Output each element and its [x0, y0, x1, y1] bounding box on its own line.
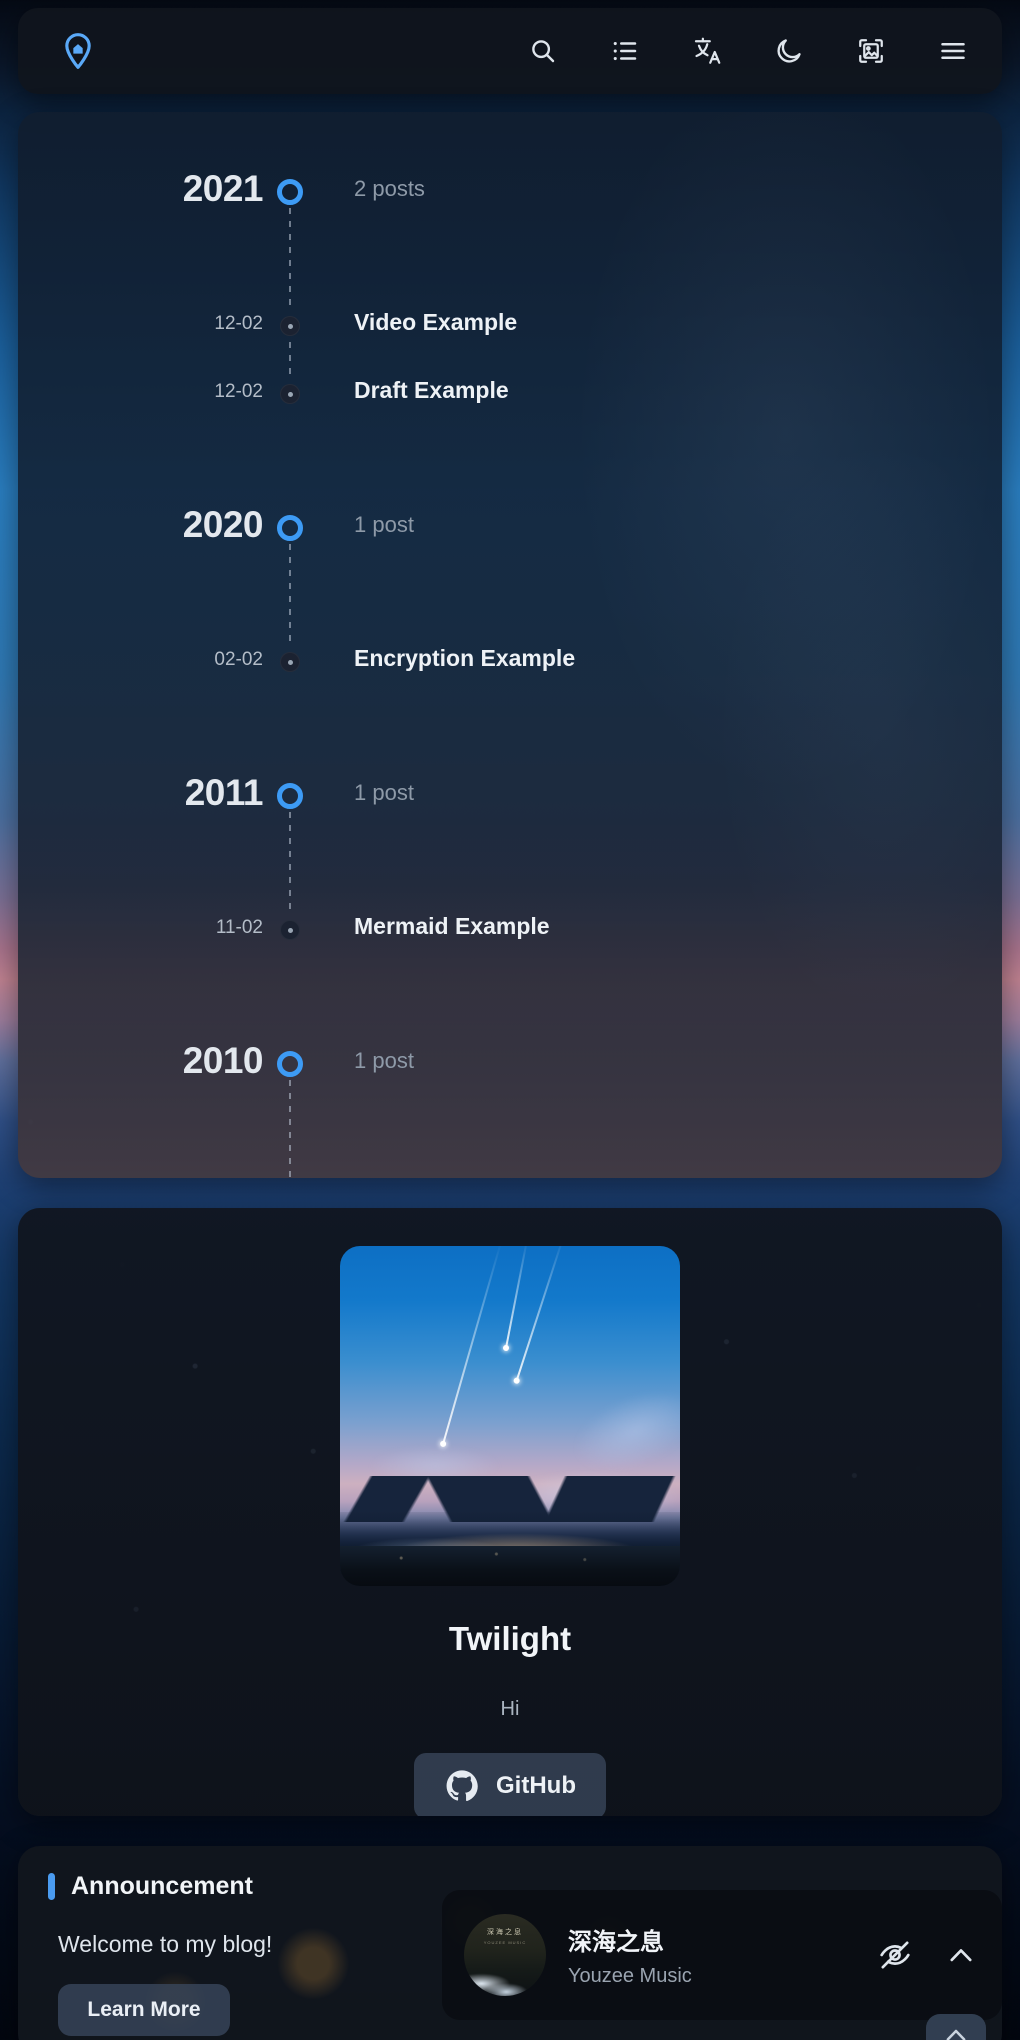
timeline-post-dot[interactable] — [280, 652, 300, 672]
album-cover-title: 深海之息 — [464, 1927, 546, 1937]
scroll-to-top-button[interactable] — [926, 2014, 986, 2040]
timeline-year-dot[interactable] — [277, 515, 303, 541]
accent-bar — [48, 1873, 55, 1900]
music-track-title: 深海之息 — [568, 1922, 878, 1957]
profile-name: Twilight — [449, 1620, 571, 1658]
music-player: 深海之息 YOUZEE MUSIC 深海之息 Youzee Music — [442, 1890, 1002, 2020]
timeline-post-title[interactable]: Draft Example — [354, 377, 509, 404]
github-icon — [444, 1768, 480, 1804]
timeline-post-date: 11-02 — [216, 917, 263, 939]
timeline-post-title[interactable]: Encryption Example — [354, 645, 575, 672]
timeline-list: 20212 posts12-02Video Example12-02Draft … — [18, 112, 1002, 170]
translate-icon[interactable] — [692, 36, 722, 66]
music-artist: Youzee Music — [568, 1965, 878, 1988]
timeline-post-dot[interactable] — [280, 316, 300, 336]
meteor-streak — [505, 1246, 528, 1348]
meteor-streak — [516, 1246, 564, 1381]
album-cover[interactable]: 深海之息 YOUZEE MUSIC — [464, 1914, 546, 1996]
hamburger-menu-icon[interactable] — [938, 36, 968, 66]
timeline-post-date: 12-02 — [214, 381, 263, 403]
timeline-post-dot[interactable] — [280, 920, 300, 940]
timeline-post-dot[interactable] — [280, 384, 300, 404]
learn-more-label: Learn More — [87, 1998, 200, 2022]
chevron-up-icon — [941, 2020, 971, 2040]
timeline-year-count: 1 post — [354, 512, 414, 538]
timeline-post-date: 12-02 — [214, 313, 263, 335]
timeline-post-date: 02-02 — [214, 649, 263, 671]
timeline-connector — [289, 1080, 291, 1178]
map-pin-home-icon[interactable] — [58, 31, 98, 71]
timeline-year-count: 1 post — [354, 780, 414, 806]
twilight-sky-avatar — [340, 1246, 680, 1586]
meteor-streak — [442, 1246, 502, 1444]
timeline-year-label: 2020 — [183, 504, 263, 546]
archive-timeline-card: 20212 posts12-02Video Example12-02Draft … — [18, 112, 1002, 1178]
album-cover-subtitle: YOUZEE MUSIC — [464, 1940, 546, 1945]
github-button[interactable]: GitHub — [414, 1753, 606, 1816]
site-header — [18, 8, 1002, 94]
timeline-year-label: 2010 — [183, 1040, 263, 1082]
timeline-connector — [289, 544, 291, 648]
timeline-year-dot[interactable] — [277, 179, 303, 205]
eye-off-icon[interactable] — [878, 1938, 912, 1972]
timeline-year-count: 2 posts — [354, 176, 425, 202]
toc-list-icon[interactable] — [610, 36, 640, 66]
moon-icon[interactable] — [774, 36, 804, 66]
timeline-year-dot[interactable] — [277, 783, 303, 809]
learn-more-button[interactable]: Learn More — [58, 1984, 230, 2036]
timeline-connector — [289, 208, 291, 312]
timeline-connector — [289, 342, 291, 380]
timeline-year-label: 2011 — [185, 772, 263, 814]
announcement-title: Announcement — [71, 1872, 253, 1901]
header-nav-icons — [528, 36, 968, 66]
timeline-year-dot[interactable] — [277, 1051, 303, 1077]
profile-card: Twilight Hi GitHub — [18, 1208, 1002, 1816]
profile-bio: Hi — [501, 1698, 520, 1721]
album-cover-wave — [464, 1956, 536, 1996]
timeline-year-label: 2021 — [183, 168, 263, 210]
chevron-up-icon[interactable] — [944, 1938, 978, 1972]
timeline-year-count: 1 post — [354, 1048, 414, 1074]
timeline-post-title[interactable]: Video Example — [354, 309, 517, 336]
search-icon[interactable] — [528, 36, 558, 66]
timeline-connector — [289, 812, 291, 916]
github-button-label: GitHub — [496, 1772, 576, 1800]
music-metadata: 深海之息 Youzee Music — [568, 1922, 878, 1988]
image-toggle-icon[interactable] — [856, 36, 886, 66]
foreground-ground — [340, 1546, 680, 1586]
timeline-post-title[interactable]: Mermaid Example — [354, 913, 550, 940]
